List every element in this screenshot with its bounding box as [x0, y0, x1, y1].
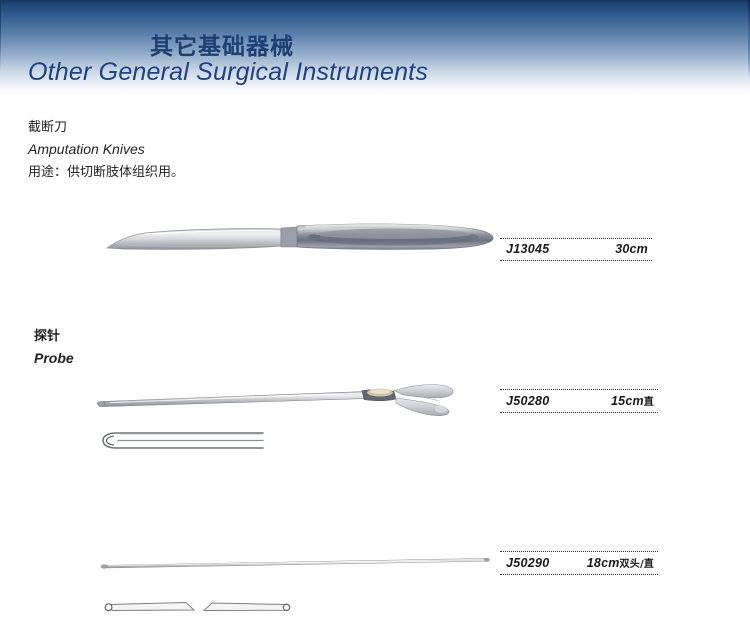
rod-tip-detail-figure [100, 598, 295, 620]
page-header: 其它基础器械 Other General Surgical Instrument… [0, 0, 750, 96]
probe-fork-upper [394, 385, 453, 398]
spec-size: 18cm双头/直 [587, 555, 658, 570]
rod-detail-eyelet-right [283, 604, 289, 610]
page-title-english: Other General Surgical Instruments [28, 58, 428, 87]
probe-shaft [98, 392, 368, 407]
group-heading-probe: 探针 Probe [34, 328, 74, 368]
spec-code: J50280 [500, 394, 550, 408]
straight-probe-figure [100, 556, 490, 570]
header-left-edge [0, 0, 1, 70]
group-name-chinese: 探针 [34, 328, 74, 347]
rod-detail-tip-right [204, 603, 286, 611]
page-title-chinese: 其它基础器械 [150, 27, 294, 61]
product-description-block: 截断刀 Amputation Knives 用途：供切断肢体组织用。 [28, 118, 184, 183]
group-name-english: Probe [34, 348, 74, 368]
probe-tip-left [97, 401, 105, 406]
straight-probe-tip-right [484, 558, 489, 561]
product-usage-text: 用途：供切断肢体组织用。 [28, 163, 184, 183]
spec-size: 15cm直 [611, 393, 658, 408]
spec-code: J13045 [500, 242, 550, 256]
spec-row-j50290: J50290 18cm双头/直 [500, 551, 658, 575]
product-name-english: Amputation Knives [28, 139, 184, 161]
spec-row-j50280: J50280 15cm直 [500, 389, 658, 413]
product-name-chinese: 截断刀 [28, 118, 184, 138]
amputation-knife-figure [105, 222, 495, 266]
straight-probe-tip-left [101, 565, 107, 569]
rod-detail-eyelet-left [105, 604, 112, 611]
spec-size: 30cm [615, 242, 652, 256]
rod-detail-tip-left [110, 603, 194, 611]
spec-code: J50290 [500, 556, 550, 570]
forked-probe-figure [96, 382, 456, 418]
knife-bolster [281, 227, 297, 247]
probe-tip-detail-figure [100, 430, 265, 458]
spec-row-j13045: J13045 30cm [500, 238, 652, 261]
